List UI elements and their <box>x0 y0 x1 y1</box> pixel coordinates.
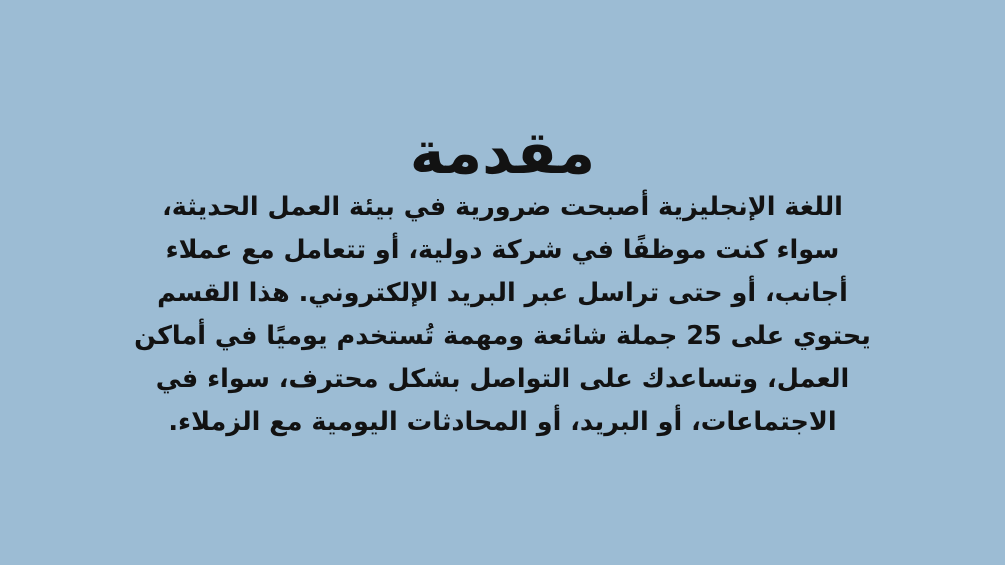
body-line: أجانب، أو حتى تراسل عبر البريد الإلكترون… <box>132 272 874 315</box>
page-title: مقدمة <box>0 122 1005 184</box>
body-paragraph: اللغة الإنجليزية أصبحت ضرورية في بيئة ال… <box>132 186 874 444</box>
body-line: سواء كنت موظفًا في شركة دولية، أو تتعامل… <box>132 229 874 272</box>
slide-canvas: مقدمة اللغة الإنجليزية أصبحت ضرورية في ب… <box>0 0 1005 565</box>
body-line: يحتوي على 25 جملة شائعة ومهمة تُستخدم يو… <box>132 315 874 358</box>
body-line: اللغة الإنجليزية أصبحت ضرورية في بيئة ال… <box>132 186 874 229</box>
body-line: الاجتماعات، أو البريد، أو المحادثات اليو… <box>132 401 874 444</box>
body-line: العمل، وتساعدك على التواصل بشكل محترف، س… <box>132 358 874 401</box>
